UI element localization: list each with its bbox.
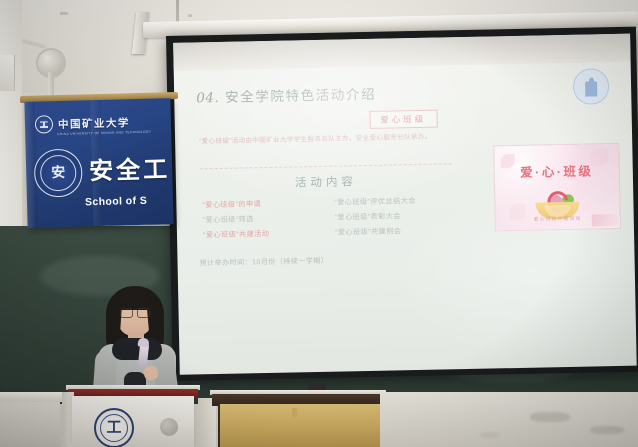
wall-fixture-box [0, 55, 15, 91]
podium-side-body [0, 402, 60, 447]
university-gate-icon [573, 68, 610, 105]
seal-glyph: 安 [50, 164, 66, 182]
sensor-stem [48, 72, 54, 98]
picture-card-corner-decor [592, 214, 618, 227]
school-name-en: School of S [85, 195, 147, 209]
slide-title: 04. 安全学院特色活动介绍 [196, 83, 376, 107]
podium-emblem-icon: 工 [94, 408, 134, 447]
podium: 工 [72, 396, 194, 447]
emblem-glyph: 工 [96, 419, 132, 435]
wall-scuff [590, 426, 624, 434]
list-item: “爱心班级”评优总结大会 [334, 195, 458, 206]
slide-tag-badge: 爱心班级 [369, 110, 437, 129]
list-item: “爱心班级”表彰大会 [335, 210, 459, 221]
slide-title-number: 04. [196, 90, 219, 106]
university-name-cn: 中国矿业大学 [58, 115, 130, 132]
list-item: “爱心班级”的申请 [202, 198, 326, 209]
slide-intro-paragraph: “爱心班级”活动由中国矿业大学学生服务总队主办，安全爱心服务分队承办。 [199, 131, 449, 148]
podium-knob [160, 418, 178, 436]
wall-mark [60, 12, 68, 15]
wooden-desk-panel [218, 404, 382, 447]
glasses-icon [120, 308, 150, 316]
picture-card-title: 爱·心·班级 [495, 160, 619, 181]
school-seal-icon: 安 [34, 148, 83, 197]
school-row: 安 安全工 [34, 146, 171, 198]
wall-scuff [530, 412, 570, 422]
classroom-presentation-photo: 04. 安全学院特色活动介绍 爱心班级 “爱心班级”活动由中国矿业大学学生服务总… [0, 0, 638, 447]
slide-footer-note: 预计举办时间：10月份（持续一学期） [199, 256, 328, 269]
desk-knob [292, 408, 297, 417]
wall-mark [188, 14, 192, 17]
love-class-picture-card: 爱·心·班级 爱心班级共建活动 [494, 144, 620, 230]
department-banner: 中国矿业大学 CHINA UNIVERSITY OF MINING AND TE… [24, 98, 173, 228]
list-item: “爱心班级”共建例会 [335, 225, 459, 236]
projection-surface: 04. 安全学院特色活动介绍 爱心班级 “爱心班级”活动由中国矿业大学学生服务总… [173, 34, 637, 375]
podium-side-shelf [0, 392, 64, 402]
activity-list: “爱心班级”的申请 “爱心班级”评优总结大会 “爱心班级”筛选 “爱心班级”表彰… [202, 195, 459, 239]
school-name-cn: 安全工 [89, 158, 171, 184]
list-item: “爱心班级”共建活动 [203, 228, 327, 239]
slide-title-text: 安全学院特色活动介绍 [225, 87, 376, 106]
slide-section-heading: 活动内容 [200, 171, 452, 192]
university-seal-icon [35, 115, 53, 133]
list-item: “爱心班级”筛选 [203, 213, 327, 224]
lower-right-wall [380, 392, 638, 447]
slide-divider [200, 163, 452, 169]
wall-scuff [480, 432, 500, 438]
powerpoint-slide: 04. 安全学院特色活动介绍 爱心班级 “爱心班级”活动由中国矿业大学学生服务总… [174, 60, 637, 375]
gate-glyph [583, 77, 599, 96]
projection-screen: 04. 安全学院特色活动介绍 爱心班级 “爱心班级”活动由中国矿业大学学生服务总… [166, 27, 638, 381]
microphone-head [138, 337, 150, 347]
